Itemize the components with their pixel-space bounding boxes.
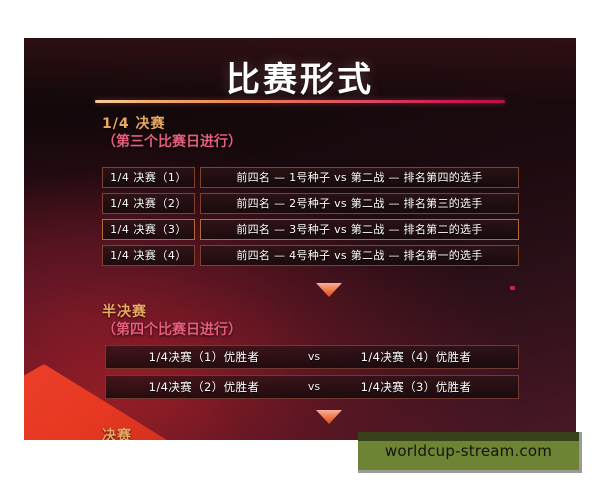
semifinal-heading: 半决赛 <box>102 304 242 321</box>
final-heading-group: 决赛 <box>102 428 132 440</box>
title-underline-rule <box>95 100 505 103</box>
qf-row-tag: 1/4 决赛（2） <box>102 193 195 214</box>
sf-row-left-team: 1/4决赛（2）优胜者 <box>120 376 288 398</box>
sf-row-left-team: 1/4决赛（1）优胜者 <box>120 346 288 368</box>
semifinal-heading-group: 半决赛 （第四个比赛日进行） <box>102 304 242 339</box>
table-row[interactable]: 1/4决赛（1）优胜者 vs 1/4决赛（4）优胜者 <box>105 345 519 369</box>
poster-page: 比赛形式 1/4 决赛 （第三个比赛日进行） 1/4 决赛（1） 前四名 — 1… <box>0 0 600 480</box>
qf-row-tag: 1/4 决赛（3） <box>102 219 195 240</box>
quarterfinal-subheading: （第三个比赛日进行） <box>102 133 242 151</box>
page-title: 比赛形式 <box>24 52 576 101</box>
sf-row-right-team: 1/4决赛（3）优胜者 <box>332 376 500 398</box>
sf-row-vs-label: vs <box>296 346 332 368</box>
table-row[interactable]: 1/4决赛（2）优胜者 vs 1/4决赛（3）优胜者 <box>105 375 519 399</box>
quarterfinal-heading-group: 1/4 决赛 （第三个比赛日进行） <box>102 116 242 151</box>
qf-row-match: 前四名 — 1号种子 vs 第二战 — 排名第四的选手 <box>200 167 519 188</box>
qf-row-match: 前四名 — 2号种子 vs 第二战 — 排名第三的选手 <box>200 193 519 214</box>
qf-row-tag: 1/4 决赛（4） <box>102 245 195 266</box>
poster-panel: 比赛形式 1/4 决赛 （第三个比赛日进行） 1/4 决赛（1） 前四名 — 1… <box>24 38 576 440</box>
magenta-speck <box>510 286 515 290</box>
qf-row-match: 前四名 — 3号种子 vs 第二战 — 排名第二的选手 <box>200 219 519 240</box>
quarterfinal-heading: 1/4 决赛 <box>102 116 242 133</box>
sf-row-vs-label: vs <box>296 376 332 398</box>
watermark-badge[interactable]: worldcup-stream.com <box>358 432 582 473</box>
qf-row-tag: 1/4 决赛（1） <box>102 167 195 188</box>
sf-row-right-team: 1/4决赛（4）优胜者 <box>332 346 500 368</box>
final-heading: 决赛 <box>102 428 132 440</box>
qf-row-match: 前四名 — 4号种子 vs 第二战 — 排名第一的选手 <box>200 245 519 266</box>
semifinal-subheading: （第四个比赛日进行） <box>102 321 242 339</box>
